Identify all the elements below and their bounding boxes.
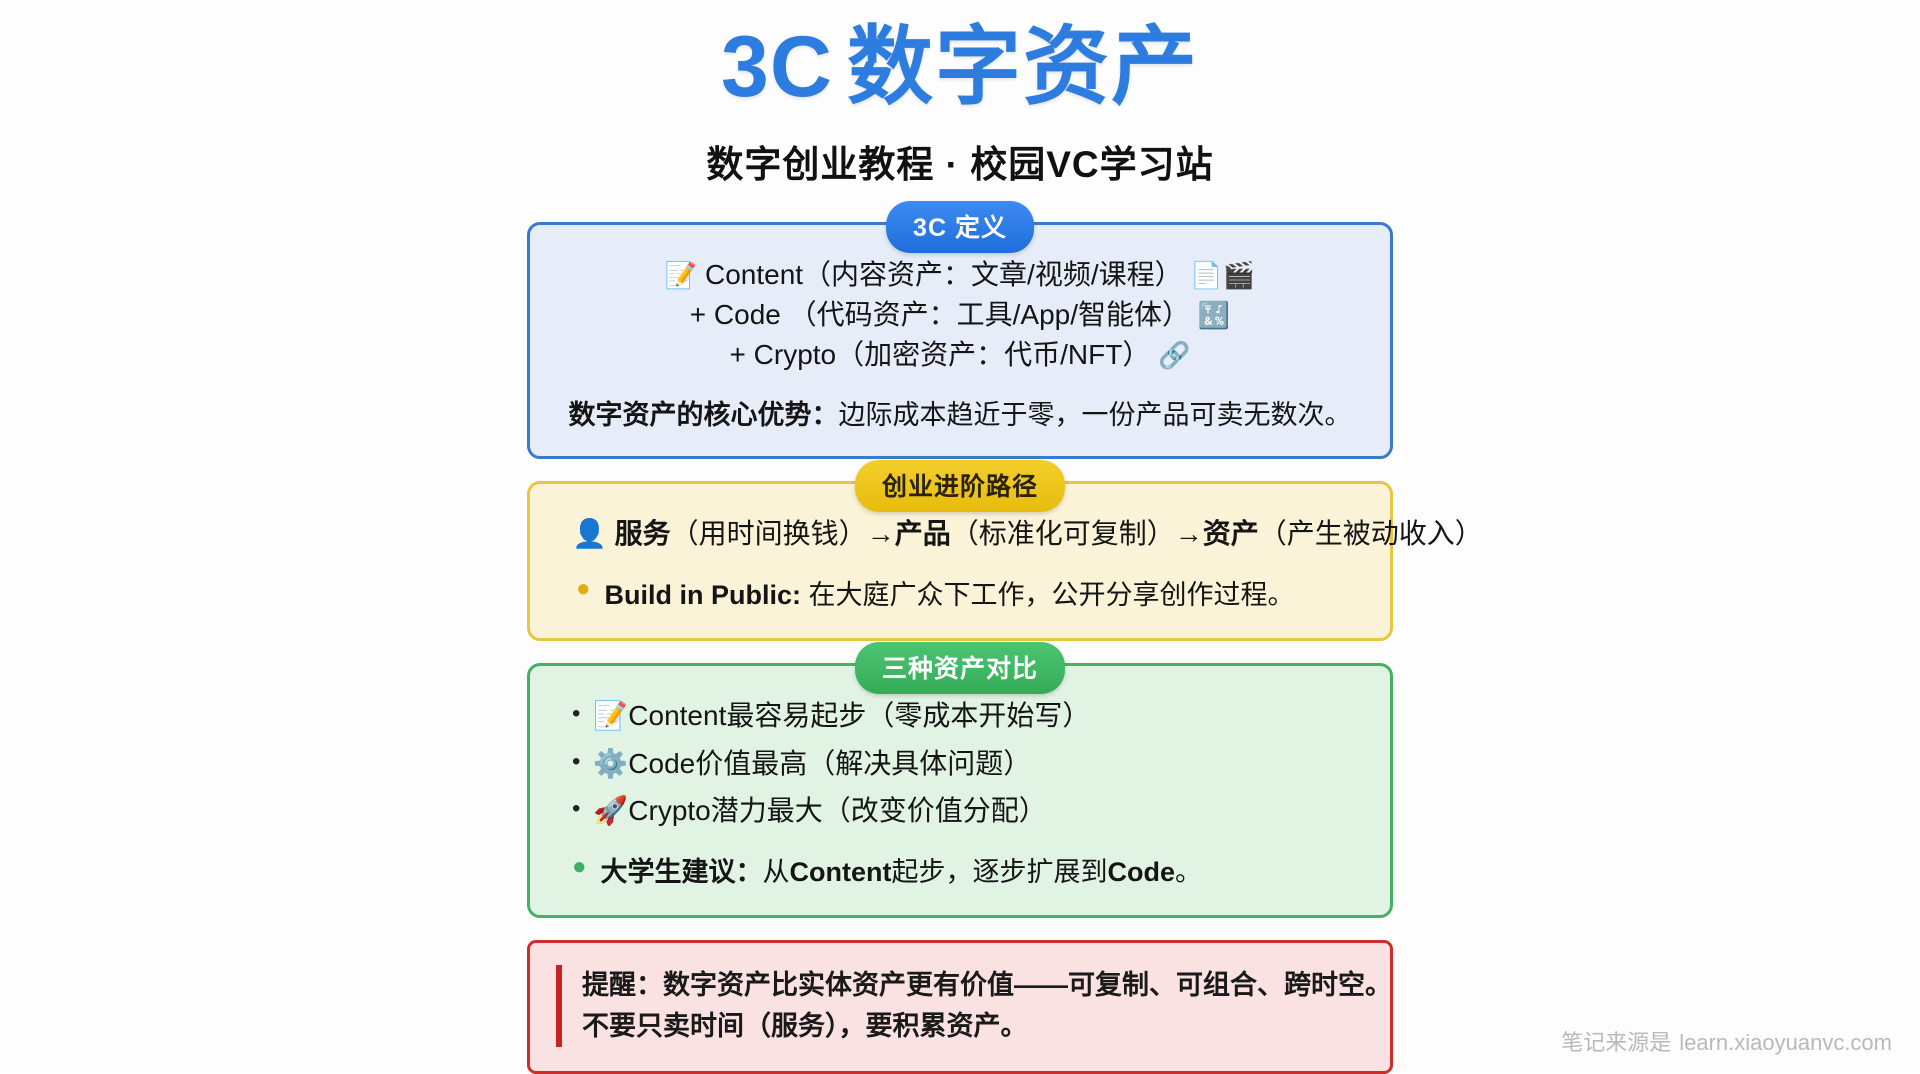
compare-advice-bold-b: Code bbox=[1107, 857, 1175, 887]
path-step2-label: 产品 bbox=[895, 518, 951, 549]
definition-card: 📝 Content（内容资产：文章/视频/课程） 📄🎬 + Code （代码资产… bbox=[527, 222, 1393, 458]
bullet-dot-icon: ● bbox=[572, 850, 587, 884]
compare-advice-bold-a: Content bbox=[790, 857, 892, 887]
path-arrow-1: → bbox=[867, 518, 895, 549]
path-bullet-label: Build in Public: bbox=[605, 580, 802, 610]
definition-highlight: 数字资产的核心优势：边际成本趋近于零，一份产品可卖无数次。 bbox=[558, 393, 1362, 432]
path-steps: 👤 服务（用时间换钱）→产品（标准化可复制）→资产（产生被动收入） bbox=[558, 514, 1362, 553]
definition-card-wrapper: 3C 定义 📝 Content（内容资产：文章/视频/课程） 📄🎬 + Code… bbox=[527, 222, 1393, 458]
compare-item-icon-gear: ⚙️ bbox=[593, 744, 628, 785]
warning-line-2: 不要只卖时间（服务），要积累资产。 bbox=[582, 1006, 1364, 1047]
list-item: • 📝 Content最容易起步（零成本开始写） bbox=[572, 696, 1362, 737]
person-icon: 👤 bbox=[572, 518, 607, 549]
slide-page: 3C数字资产 数字创业教程 · 校园VC学习站 3C 定义 📝 Content（… bbox=[0, 0, 1920, 1071]
definition-line-crypto-text: + Crypto（加密资产：代币/NFT） bbox=[730, 339, 1151, 370]
definition-line-code-text: + Code （代码资产：工具/App/智能体） bbox=[690, 299, 1190, 330]
input-symbols-icon: 🔣 bbox=[1198, 300, 1230, 330]
path-bullet-text: 在大庭广众下工作，公开分享创作过程。 bbox=[809, 580, 1295, 610]
path-arrow-2: → bbox=[1175, 518, 1203, 549]
compare-advice-label: 大学生建议： bbox=[601, 857, 763, 887]
bullet-dot-icon: ● bbox=[576, 573, 591, 605]
path-step3-note: （产生被动收入） bbox=[1259, 518, 1483, 549]
footer-source-url: learn.xiaoyuanvc.com bbox=[1679, 1030, 1892, 1055]
warning-label: 提醒： bbox=[582, 970, 663, 1000]
compare-list: • 📝 Content最容易起步（零成本开始写） • ⚙️ Code价值最高（解… bbox=[558, 696, 1362, 833]
footer-source-label: 笔记来源是 bbox=[1561, 1030, 1671, 1055]
compare-item-text: Content最容易起步（零成本开始写） bbox=[628, 696, 1090, 737]
list-item: • 🚀 Crypto潜力最大（改变价值分配） bbox=[572, 791, 1362, 832]
path-step1-note: （用时间换钱） bbox=[671, 518, 867, 549]
list-item: • ⚙️ Code价值最高（解决具体问题） bbox=[572, 744, 1362, 785]
compare-advice-text-c: 。 bbox=[1175, 857, 1202, 887]
warning-card: 提醒：数字资产比实体资产更有价值——可复制、可组合、跨时空。 不要只卖时间（服务… bbox=[527, 940, 1393, 1074]
path-step3-label: 资产 bbox=[1203, 518, 1259, 549]
footer-source: 笔记来源是learn.xiaoyuanvc.com bbox=[1561, 1025, 1892, 1057]
definition-line-content: 📝 Content（内容资产：文章/视频/课程） 📄🎬 bbox=[558, 255, 1362, 295]
compare-advice-body: 大学生建议：从Content起步，逐步扩展到Code。 bbox=[601, 850, 1202, 889]
path-step1-label: 服务 bbox=[615, 518, 671, 549]
badge-compare: 三种资产对比 bbox=[855, 642, 1065, 694]
badge-definition: 3C 定义 bbox=[886, 201, 1034, 253]
badge-path: 创业进阶路径 bbox=[855, 460, 1065, 512]
warning-card-wrapper: 提醒：数字资产比实体资产更有价值——可复制、可组合、跨时空。 不要只卖时间（服务… bbox=[527, 940, 1393, 1074]
compare-item-icon-memo: 📝 bbox=[593, 696, 628, 737]
page-subtitle: 数字创业教程 · 校园VC学习站 bbox=[0, 134, 1920, 188]
bullet-dot-icon: • bbox=[572, 696, 580, 732]
compare-advice-text-b: 起步，逐步扩展到 bbox=[891, 857, 1107, 887]
path-step2-note: （标准化可复制） bbox=[951, 518, 1175, 549]
compare-item-icon-rocket: 🚀 bbox=[593, 791, 628, 832]
link-nodes-icon: 🔗 bbox=[1158, 340, 1190, 370]
path-bullet-body: Build in Public: 在大庭广众下工作，公开分享创作过程。 bbox=[605, 573, 1295, 612]
page-title-prefix: 3C bbox=[721, 19, 833, 115]
compare-advice-text-a: 从 bbox=[763, 857, 790, 887]
compare-card-wrapper: 三种资产对比 • 📝 Content最容易起步（零成本开始写） • ⚙️ Cod… bbox=[527, 663, 1393, 919]
warning-inner: 提醒：数字资产比实体资产更有价值——可复制、可组合、跨时空。 不要只卖时间（服务… bbox=[556, 965, 1364, 1047]
compare-item-text: Code价值最高（解决具体问题） bbox=[628, 744, 1031, 785]
page-title: 3C数字资产 bbox=[0, 22, 1920, 112]
bullet-dot-icon: • bbox=[572, 744, 580, 780]
path-card-wrapper: 创业进阶路径 👤 服务（用时间换钱）→产品（标准化可复制）→资产（产生被动收入）… bbox=[527, 481, 1393, 641]
page-title-main: 数字资产 bbox=[847, 19, 1199, 115]
header: 3C数字资产 数字创业教程 · 校园VC学习站 bbox=[0, 0, 1920, 188]
definition-line-content-text: Content（内容资产：文章/视频/课程） bbox=[705, 259, 1183, 290]
definition-line-crypto: + Crypto（加密资产：代币/NFT） 🔗 bbox=[558, 335, 1362, 375]
warning-text-1: 数字资产比实体资产更有价值——可复制、可组合、跨时空。 bbox=[663, 970, 1392, 1000]
compare-card: • 📝 Content最容易起步（零成本开始写） • ⚙️ Code价值最高（解… bbox=[527, 663, 1393, 919]
compare-advice: ● 大学生建议：从Content起步，逐步扩展到Code。 bbox=[558, 850, 1362, 889]
page-clapper-icons: 📄🎬 bbox=[1190, 260, 1255, 290]
definition-highlight-text: 边际成本趋近于零，一份产品可卖无数次。 bbox=[839, 400, 1352, 430]
path-bullet-build-in-public: ● Build in Public: 在大庭广众下工作，公开分享创作过程。 bbox=[558, 573, 1362, 612]
cards-container: 3C 定义 📝 Content（内容资产：文章/视频/课程） 📄🎬 + Code… bbox=[527, 222, 1393, 1074]
memo-icon: 📝 bbox=[665, 260, 697, 290]
compare-item-text: Crypto潜力最大（改变价值分配） bbox=[628, 791, 1046, 832]
warning-line-1: 提醒：数字资产比实体资产更有价值——可复制、可组合、跨时空。 bbox=[582, 965, 1364, 1006]
bullet-dot-icon: • bbox=[572, 791, 580, 827]
definition-highlight-label: 数字资产的核心优势： bbox=[569, 400, 839, 430]
definition-line-code: + Code （代码资产：工具/App/智能体） 🔣 bbox=[558, 295, 1362, 335]
